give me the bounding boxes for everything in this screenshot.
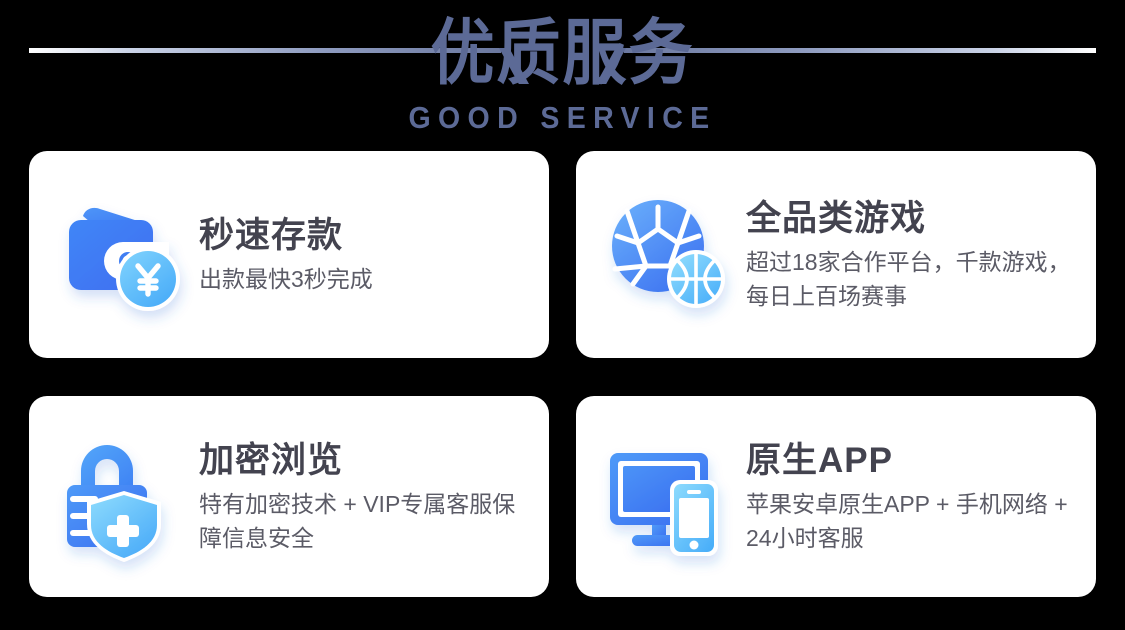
feature-card-title: 秒速存款 bbox=[199, 214, 527, 258]
page-subtitle: GOOD SERVICE bbox=[45, 100, 1080, 136]
page-title: 优质服务 bbox=[0, 8, 1125, 98]
feature-card-encryption[interactable]: 加密浏览 特有加密技术 + VIP专属客服保障信息安全 bbox=[29, 396, 549, 597]
feature-card-title: 加密浏览 bbox=[199, 439, 527, 483]
feature-card-title: 原生APP bbox=[746, 439, 1074, 483]
wallet-yen-icon bbox=[55, 189, 187, 321]
feature-card-text: 原生APP 苹果安卓原生APP + 手机网络 + 24小时客服 bbox=[746, 439, 1074, 555]
feature-card-native-app[interactable]: 原生APP 苹果安卓原生APP + 手机网络 + 24小时客服 bbox=[576, 396, 1096, 597]
feature-card-games[interactable]: 全品类游戏 超过18家合作平台，千款游戏，每日上百场赛事 bbox=[576, 151, 1096, 358]
lock-shield-icon bbox=[55, 431, 187, 563]
monitor-phone-icon bbox=[602, 431, 734, 563]
header: 优质服务 GOOD SERVICE bbox=[0, 0, 1125, 146]
feature-card-text: 加密浏览 特有加密技术 + VIP专属客服保障信息安全 bbox=[199, 439, 527, 555]
feature-card-grid: 秒速存款 出款最快3秒完成 bbox=[29, 151, 1096, 597]
soccer-basketball-icon bbox=[602, 189, 734, 321]
promo-banner: 优质服务 GOOD SERVICE bbox=[0, 0, 1125, 630]
feature-card-description: 出款最快3秒完成 bbox=[199, 262, 527, 296]
feature-card-text: 全品类游戏 超过18家合作平台，千款游戏，每日上百场赛事 bbox=[746, 197, 1074, 313]
feature-card-description: 苹果安卓原生APP + 手机网络 + 24小时客服 bbox=[746, 487, 1074, 555]
feature-card-description: 特有加密技术 + VIP专属客服保障信息安全 bbox=[199, 487, 527, 555]
feature-card-description: 超过18家合作平台，千款游戏，每日上百场赛事 bbox=[746, 245, 1074, 313]
feature-card-deposit[interactable]: 秒速存款 出款最快3秒完成 bbox=[29, 151, 549, 358]
feature-card-title: 全品类游戏 bbox=[746, 197, 1074, 241]
feature-card-text: 秒速存款 出款最快3秒完成 bbox=[199, 214, 527, 296]
